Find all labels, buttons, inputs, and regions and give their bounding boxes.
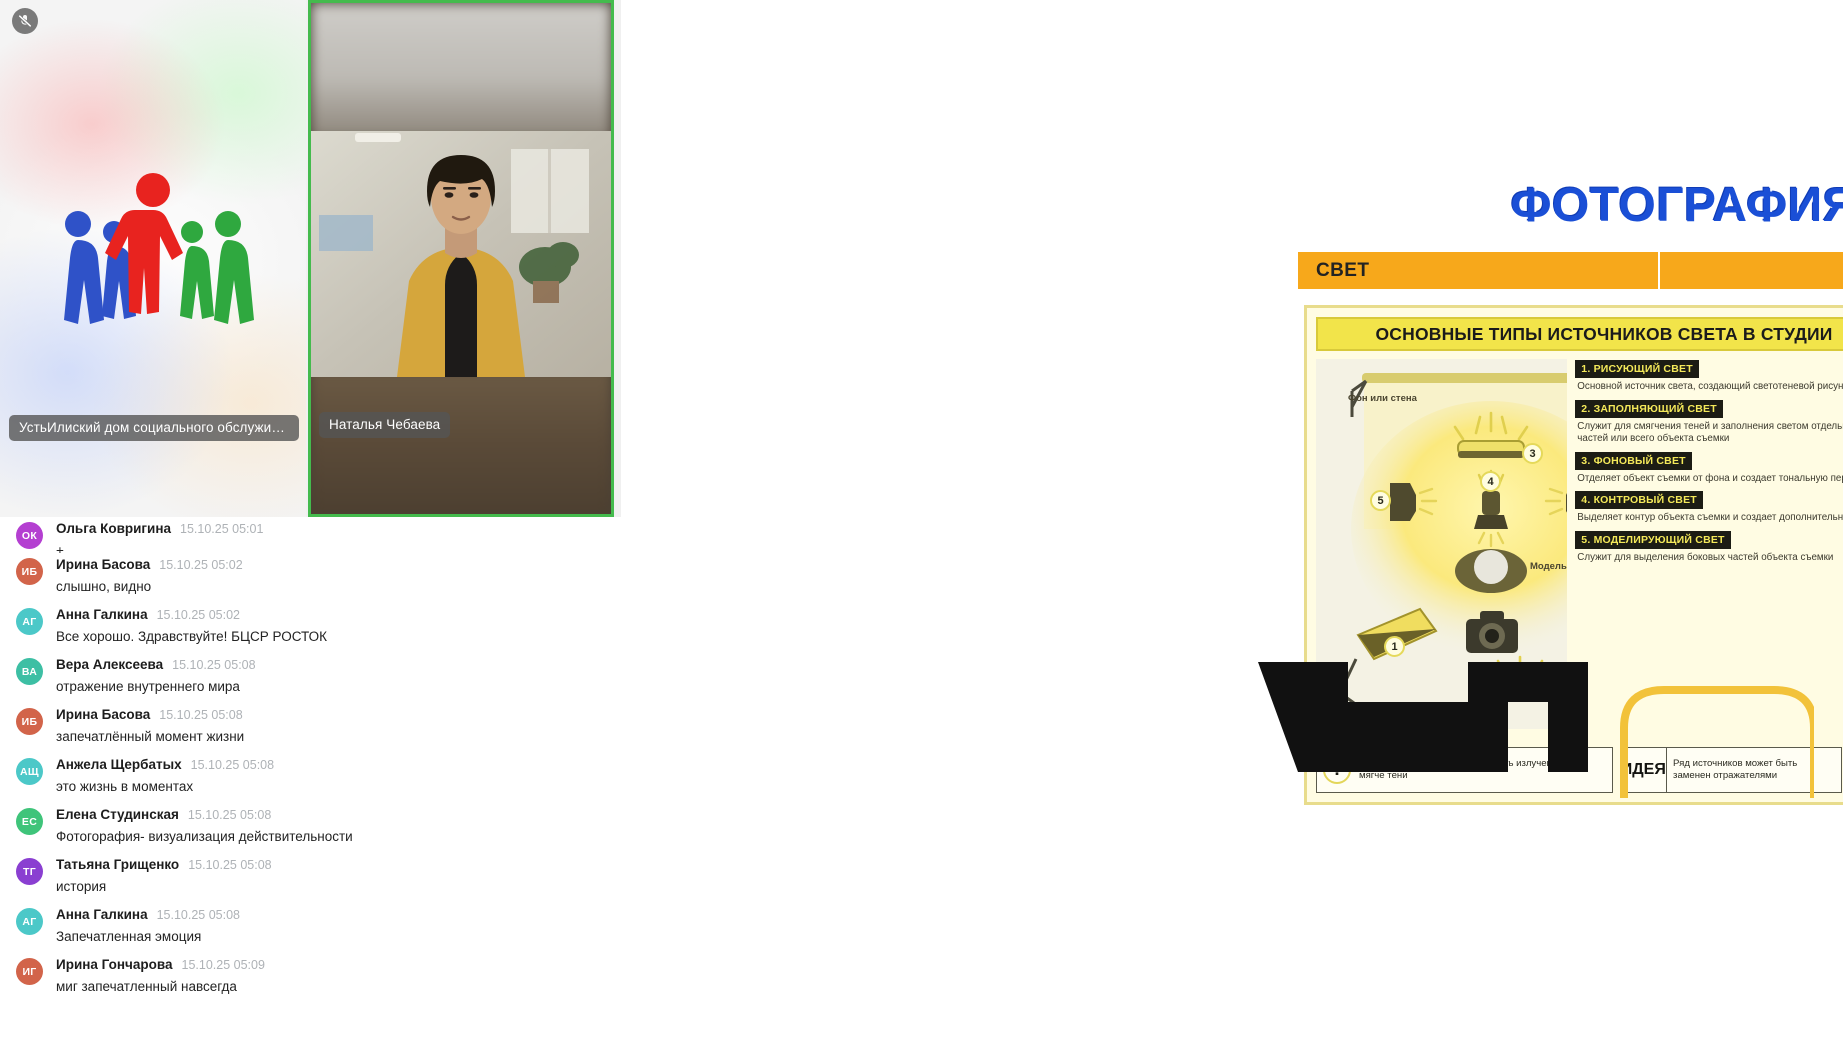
- chat-timestamp: 15.10.25 05:08: [191, 757, 274, 774]
- participant-name-tag-organization: УстьИлиский дом социального обслуживания…: [9, 415, 299, 441]
- chat-message-text: отражение внутреннего мира: [56, 674, 605, 697]
- chat-timestamp: 15.10.25 05:08: [159, 707, 242, 724]
- chat-message-header: Ирина Гончарова15.10.25 05:09: [56, 956, 605, 974]
- light-type-description: Выделяет контур объекта съемки и создает…: [1575, 509, 1843, 527]
- infographic-title: ОСНОВНЫЕ ТИПЫ ИСТОЧНИКОВ СВЕТА В СТУДИИ: [1316, 317, 1843, 351]
- chat-message-text: +: [56, 538, 605, 553]
- chat-message-header: Ирина Басова15.10.25 05:02: [56, 556, 605, 574]
- video-tile-grid: УстьИлиский дом социального обслуживания…: [0, 0, 621, 517]
- light-type-item: 1. РИСУЮЩИЙ СВЕТ Основной источник света…: [1575, 359, 1843, 396]
- shared-screen-bottom-margin: [1258, 860, 1843, 1037]
- light-type-heading: 5. МОДЕЛИРУЮЩИЙ СВЕТ: [1575, 531, 1730, 549]
- chat-panel[interactable]: ОКОльга Ковригина15.10.25 05:01+ИБИрина …: [0, 517, 621, 1037]
- chat-timestamp: 15.10.25 05:08: [172, 657, 255, 674]
- chat-message-text: миг запечатленный навсегда: [56, 974, 605, 997]
- mic-off-icon[interactable]: [12, 8, 38, 34]
- chat-author: Ирина Гончарова: [56, 956, 173, 973]
- chat-message-list: ОКОльга Ковригина15.10.25 05:01+ИБИрина …: [0, 517, 621, 1009]
- chat-avatar: ОК: [16, 522, 43, 549]
- video-background-top: [311, 3, 611, 139]
- chat-message[interactable]: ТГТатьяна Грищенко15.10.25 05:08история: [0, 853, 621, 903]
- chat-message[interactable]: ИГИрина Гончарова15.10.25 05:09миг запеч…: [0, 953, 621, 1003]
- chat-avatar: ТГ: [16, 858, 43, 885]
- diagram-marker-4: 4: [1480, 471, 1501, 492]
- chat-message[interactable]: АЩАнжела Щербатых15.10.25 05:08это жизнь…: [0, 753, 621, 803]
- chat-timestamp: 15.10.25 05:09: [182, 957, 265, 974]
- chat-timestamp: 15.10.25 05:01: [180, 521, 263, 538]
- chat-message-text: история: [56, 874, 605, 897]
- light-bar-cell-svet: СВЕТ: [1298, 252, 1658, 289]
- chat-message-text: Запечатленная эмоция: [56, 924, 605, 947]
- chat-timestamp: 15.10.25 05:02: [159, 557, 242, 574]
- diagram-marker-3: 3: [1522, 443, 1543, 464]
- chat-message-text: запечатлённый момент жизни: [56, 724, 605, 747]
- left-panel: УстьИлиский дом социального обслуживания…: [0, 0, 621, 1037]
- chat-author: Анна Галкина: [56, 606, 148, 623]
- chat-avatar: ИГ: [16, 958, 43, 985]
- light-type-item: 4. КОНТРОВЫЙ СВЕТ Выделяет контур объект…: [1575, 490, 1843, 527]
- chat-avatar: ИБ: [16, 708, 43, 735]
- chat-author: Ирина Басова: [56, 706, 150, 723]
- chat-author: Вера Алексеева: [56, 656, 163, 673]
- video-conference-window: УстьИлиский дом социального обслуживания…: [0, 0, 1843, 1037]
- chat-author: Татьяна Грищенко: [56, 856, 179, 873]
- chat-message[interactable]: АГАнна Галкина15.10.25 05:08Запечатленна…: [0, 903, 621, 953]
- chat-author: Ольга Ковригина: [56, 520, 171, 537]
- chat-timestamp: 15.10.25 05:08: [157, 907, 240, 924]
- chat-message[interactable]: АГАнна Галкина15.10.25 05:02Все хорошо. …: [0, 603, 621, 653]
- chat-message-header: Елена Студинская15.10.25 05:08: [56, 806, 605, 824]
- chat-message-header: Анжела Щербатых15.10.25 05:08: [56, 756, 605, 774]
- light-type-item: 5. МОДЕЛИРУЮЩИЙ СВЕТ Служит для выделени…: [1575, 530, 1843, 567]
- chat-message-text: Фотогорафия- визуализация действительнос…: [56, 824, 605, 847]
- chat-message-header: Анна Галкина15.10.25 05:08: [56, 906, 605, 924]
- chat-avatar: ВА: [16, 658, 43, 685]
- chat-message[interactable]: ИБИрина Басова15.10.25 05:08запечатлённы…: [0, 703, 621, 753]
- light-bar-label-svet: СВЕТ: [1316, 260, 1369, 282]
- diagram-marker-1: 1: [1384, 636, 1405, 657]
- diagram-marker-5-left: 5: [1370, 490, 1391, 511]
- shared-screen-top-margin: [1258, 0, 1843, 160]
- light-type-description: Отделяет объект съемки от фона и создает…: [1575, 470, 1843, 488]
- chat-message-text: это жизнь в моментах: [56, 774, 605, 797]
- chat-timestamp: 15.10.25 05:08: [188, 807, 271, 824]
- chat-author: Анна Галкина: [56, 906, 148, 923]
- light-type-description: Служит для выделения боковых частей объе…: [1575, 549, 1843, 567]
- decorative-arrow-middle: [1614, 680, 1814, 800]
- chat-message-header: Татьяна Грищенко15.10.25 05:08: [56, 856, 605, 874]
- presentation-slide: ФОТОГРАФИЯ - СВЕТОПИСЬ СВЕТ ЖЕСТКИЙ МЯГК…: [1258, 160, 1843, 860]
- chat-message-text: Все хорошо. Здравствуйте! БЦСР РОСТОК: [56, 624, 605, 647]
- light-types-list: 1. РИСУЮЩИЙ СВЕТ Основной источник света…: [1575, 359, 1843, 729]
- shared-screen-panel[interactable]: ФОТОГРАФИЯ - СВЕТОПИСЬ СВЕТ ЖЕСТКИЙ МЯГК…: [621, 0, 1843, 1037]
- chat-avatar: АГ: [16, 908, 43, 935]
- chat-message[interactable]: ЕСЕлена Студинская15.10.25 05:08Фотогора…: [0, 803, 621, 853]
- chat-message[interactable]: ВАВера Алексеева15.10.25 05:08отражение …: [0, 653, 621, 703]
- decorative-arrow-left: [1258, 662, 1588, 772]
- chat-message-header: Ольга Ковригина15.10.25 05:01: [56, 520, 605, 538]
- chat-author: Ирина Басова: [56, 556, 150, 573]
- light-type-description: Служит для смягчения теней и заполнения …: [1575, 418, 1843, 448]
- chat-author: Анжела Щербатых: [56, 756, 182, 773]
- light-quality-bar: СВЕТ ЖЕСТКИЙ МЯГКИЙ: [1298, 252, 1843, 289]
- diagram-label-model: Модель: [1530, 561, 1567, 572]
- chat-author: Елена Студинская: [56, 806, 179, 823]
- chat-message-text: слышно, видно: [56, 574, 605, 597]
- video-tile-speaker[interactable]: Наталья Чебаева: [308, 0, 614, 517]
- chat-avatar: АГ: [16, 608, 43, 635]
- light-type-heading: 2. ЗАПОЛНЯЮЩИЙ СВЕТ: [1575, 400, 1723, 418]
- video-background-bottom: [311, 371, 611, 516]
- chat-avatar: ЕС: [16, 808, 43, 835]
- chat-message-header: Вера Алексеева15.10.25 05:08: [56, 656, 605, 674]
- slide-title: ФОТОГРАФИЯ - СВЕТОПИСЬ: [1258, 178, 1843, 233]
- chat-avatar: ИБ: [16, 558, 43, 585]
- light-type-item: 2. ЗАПОЛНЯЮЩИЙ СВЕТ Служит для смягчения…: [1575, 399, 1843, 448]
- speaker-webcam-image: [311, 131, 611, 377]
- chat-message[interactable]: ИБИрина Басова15.10.25 05:02слышно, видн…: [0, 553, 621, 603]
- light-type-heading: 3. ФОНОВЫЙ СВЕТ: [1575, 452, 1691, 470]
- light-type-description: Основной источник света, создающий свето…: [1575, 378, 1843, 396]
- light-bar-cell-hard: ЖЕСТКИЙ: [1658, 252, 1843, 289]
- chat-avatar: АЩ: [16, 758, 43, 785]
- diagram-label-backdrop: Фон или стена: [1348, 393, 1417, 404]
- chat-message-header: Анна Галкина15.10.25 05:02: [56, 606, 605, 624]
- participant-name-tag-speaker: Наталья Чебаева: [319, 412, 450, 438]
- chat-timestamp: 15.10.25 05:02: [157, 607, 240, 624]
- light-type-heading: 1. РИСУЮЩИЙ СВЕТ: [1575, 360, 1699, 378]
- light-type-heading: 4. КОНТРОВЫЙ СВЕТ: [1575, 491, 1703, 509]
- light-type-item: 3. ФОНОВЫЙ СВЕТ Отделяет объект съемки о…: [1575, 451, 1843, 488]
- chat-message[interactable]: ОКОльга Ковригина15.10.25 05:01+: [0, 517, 621, 553]
- chat-timestamp: 15.10.25 05:08: [188, 857, 271, 874]
- video-tile-organization[interactable]: УстьИлиский дом социального обслуживания…: [0, 0, 306, 517]
- organization-logo-icon: [38, 162, 268, 342]
- chat-message-header: Ирина Басова15.10.25 05:08: [56, 706, 605, 724]
